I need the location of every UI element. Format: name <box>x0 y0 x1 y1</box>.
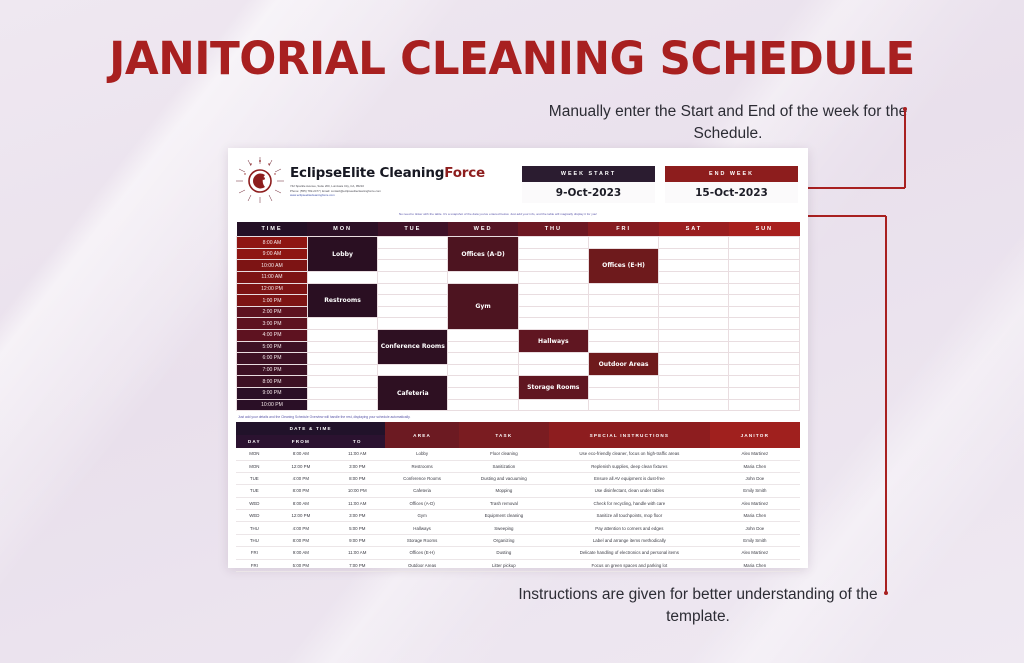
schedule-grid-row: 8:00 AMLobbyOffices (A-D) <box>237 237 800 249</box>
schedule-task-block[interactable]: Cafeteria <box>378 376 448 411</box>
schedule-empty-cell[interactable] <box>448 364 518 376</box>
schedule-empty-cell[interactable] <box>659 306 729 318</box>
data-cell-janitor[interactable]: John Doe <box>710 522 800 534</box>
data-cell-special-instructions[interactable]: Replenish supplies, deep clean fixtures <box>549 460 710 472</box>
data-cell-area[interactable]: Offices (E-H) <box>385 547 458 559</box>
data-cell-area[interactable]: Hallways <box>385 522 458 534</box>
data-table-header-day: DAY <box>236 435 273 448</box>
schedule-header-sun: SUN <box>729 222 800 237</box>
schedule-grid-row: 12:00 PMRestroomsGym <box>237 283 800 295</box>
schedule-empty-cell[interactable] <box>588 295 658 307</box>
data-cell-from[interactable]: 12:00 PM <box>273 510 329 522</box>
schedule-time-label: 7:00 PM <box>237 364 308 376</box>
schedule-time-label: 6:00 PM <box>237 353 308 365</box>
schedule-empty-cell[interactable] <box>729 248 800 260</box>
data-cell-day[interactable]: TUE <box>236 485 273 497</box>
data-cell-to[interactable]: 7:00 PM <box>329 559 385 571</box>
data-cell-special-instructions[interactable]: Ensure all AV equipment is dust-free <box>549 472 710 484</box>
schedule-empty-cell[interactable] <box>518 260 588 272</box>
page-title: JANITORIAL CLEANING SCHEDULE <box>15 32 1008 85</box>
annotation-top-arrow-vertical <box>904 109 906 188</box>
schedule-time-label: 10:00 AM <box>237 260 308 272</box>
schedule-empty-cell[interactable] <box>518 399 588 411</box>
brand-block: EclipseElite CleaningForce 742 Sparkle A… <box>290 156 522 198</box>
schedule-empty-cell[interactable] <box>518 364 588 376</box>
data-table-row[interactable]: FRI5:00 PM7:00 PMOutdoor AreasLitter pic… <box>236 559 800 571</box>
schedule-header-tue: TUE <box>378 222 448 237</box>
schedule-empty-cell[interactable] <box>518 272 588 284</box>
schedule-empty-cell[interactable] <box>729 376 800 388</box>
schedule-empty-cell[interactable] <box>307 387 377 399</box>
data-cell-task[interactable]: Floor cleaning <box>459 448 549 460</box>
data-cell-task[interactable]: Sweeping <box>459 522 549 534</box>
schedule-grid-row: 4:00 PMConference RoomsHallways <box>237 330 800 342</box>
schedule-header-time: TIME <box>237 222 308 237</box>
date-boxes: WEEK START 9-Oct-2023 END WEEK 15-Oct-20… <box>522 156 798 203</box>
brand-name-accent: Force <box>444 165 485 181</box>
schedule-empty-cell[interactable] <box>378 260 448 272</box>
schedule-empty-cell[interactable] <box>307 272 377 284</box>
schedule-empty-cell[interactable] <box>448 376 518 388</box>
schedule-time-label: 2:00 PM <box>237 306 308 318</box>
data-cell-task[interactable]: Sanitization <box>459 460 549 472</box>
data-cell-area[interactable]: Gym <box>385 510 458 522</box>
data-cell-area[interactable]: Restrooms <box>385 460 458 472</box>
schedule-empty-cell[interactable] <box>588 376 658 388</box>
schedule-empty-cell[interactable] <box>729 295 800 307</box>
data-table-row[interactable]: MON12:00 PM3:00 PMRestroomsSanitizationR… <box>236 460 800 472</box>
schedule-header-thu: THU <box>518 222 588 237</box>
data-cell-from[interactable]: 12:00 PM <box>273 460 329 472</box>
week-end-label: END WEEK <box>665 166 798 182</box>
data-cell-day[interactable]: WED <box>236 510 273 522</box>
schedule-empty-cell[interactable] <box>307 330 377 342</box>
data-cell-janitor[interactable]: Alex Martinez <box>710 448 800 460</box>
schedule-grid-container: TIMEMONTUEWEDTHUFRISATSUN 8:00 AMLobbyOf… <box>228 217 808 411</box>
data-cell-task[interactable]: Equipment cleaning <box>459 510 549 522</box>
schedule-task-block[interactable]: Conference Rooms <box>378 330 448 365</box>
week-start-value[interactable]: 9-Oct-2023 <box>522 182 655 203</box>
schedule-empty-cell[interactable] <box>659 272 729 284</box>
schedule-empty-cell[interactable] <box>448 387 518 399</box>
data-cell-area[interactable]: Offices (A-D) <box>385 497 458 509</box>
schedule-empty-cell[interactable] <box>729 272 800 284</box>
data-cell-from[interactable]: 8:00 AM <box>273 448 329 460</box>
schedule-empty-cell[interactable] <box>729 341 800 353</box>
schedule-empty-cell[interactable] <box>378 306 448 318</box>
data-cell-day[interactable]: THU <box>236 534 273 546</box>
schedule-empty-cell[interactable] <box>588 330 658 342</box>
schedule-time-label: 8:00 AM <box>237 237 308 249</box>
data-table-row[interactable]: FRI9:00 AM11:00 AMOffices (E-H)DustingDe… <box>236 547 800 559</box>
data-cell-to[interactable]: 11:00 AM <box>329 448 385 460</box>
data-table-row[interactable]: MON8:00 AM11:00 AMLobbyFloor cleaningUse… <box>236 448 800 460</box>
data-cell-day[interactable]: MON <box>236 448 273 460</box>
schedule-empty-cell[interactable] <box>588 306 658 318</box>
schedule-empty-cell[interactable] <box>588 387 658 399</box>
week-start-label: WEEK START <box>522 166 655 182</box>
data-table-header-janitor: JANITOR <box>710 422 800 448</box>
data-cell-area[interactable]: Storage Rooms <box>385 534 458 546</box>
schedule-empty-cell[interactable] <box>729 260 800 272</box>
data-cell-janitor[interactable]: Emily Smith <box>710 534 800 546</box>
data-cell-special-instructions[interactable]: Delicate handling of electronics and per… <box>549 547 710 559</box>
data-cell-task[interactable]: Dusting <box>459 547 549 559</box>
data-cell-special-instructions[interactable]: Label and arrange items methodically <box>549 534 710 546</box>
annotation-bottom-arrow-vertical <box>885 216 887 592</box>
schedule-grid-row: 3:00 PM <box>237 318 800 330</box>
schedule-grid-row: 9:00 PM <box>237 387 800 399</box>
data-table-row[interactable]: WED12:00 PM3:00 PMGymEquipment cleaningS… <box>236 510 800 522</box>
schedule-empty-cell[interactable] <box>448 341 518 353</box>
schedule-empty-cell[interactable] <box>729 283 800 295</box>
data-cell-task[interactable]: Trash removal <box>459 497 549 509</box>
schedule-time-label: 1:00 PM <box>237 295 308 307</box>
schedule-empty-cell[interactable] <box>448 272 518 284</box>
schedule-empty-cell[interactable] <box>659 399 729 411</box>
brand-website[interactable]: www.eclipseelitecleaningforce.com <box>290 193 522 198</box>
schedule-grid-row: 8:00 PMCafeteriaStorage Rooms <box>237 376 800 388</box>
data-cell-janitor[interactable]: Maria Chen <box>710 460 800 472</box>
schedule-header-mon: MON <box>307 222 377 237</box>
schedule-grid-row: 5:00 PM <box>237 341 800 353</box>
schedule-empty-cell[interactable] <box>659 248 729 260</box>
schedule-task-block[interactable]: Lobby <box>307 237 377 272</box>
schedule-empty-cell[interactable] <box>729 353 800 365</box>
schedule-task-block[interactable]: Hallways <box>518 330 588 353</box>
schedule-empty-cell[interactable] <box>659 387 729 399</box>
schedule-grid-row: 7:00 PM <box>237 364 800 376</box>
data-cell-to[interactable]: 10:00 PM <box>329 485 385 497</box>
data-cell-task[interactable]: Organizing <box>459 534 549 546</box>
data-cell-special-instructions[interactable]: Focus on green spaces and parking lot <box>549 559 710 571</box>
schedule-empty-cell[interactable] <box>378 364 448 376</box>
schedule-empty-cell[interactable] <box>448 399 518 411</box>
data-cell-janitor[interactable]: Maria Chen <box>710 510 800 522</box>
schedule-empty-cell[interactable] <box>448 353 518 365</box>
schedule-empty-cell[interactable] <box>378 237 448 249</box>
schedule-empty-cell[interactable] <box>588 283 658 295</box>
annotation-bottom: Instructions are given for better unders… <box>503 584 893 629</box>
schedule-time-label: 3:00 PM <box>237 318 308 330</box>
brand-name: EclipseElite CleaningForce <box>290 165 522 181</box>
data-cell-task[interactable]: Dusting and vacuuming <box>459 472 549 484</box>
data-cell-task[interactable]: Mopping <box>459 485 549 497</box>
schedule-empty-cell[interactable] <box>659 353 729 365</box>
data-cell-from[interactable]: 4:00 PM <box>273 472 329 484</box>
data-cell-to[interactable]: 3:00 PM <box>329 510 385 522</box>
schedule-empty-cell[interactable] <box>588 237 658 249</box>
schedule-empty-cell[interactable] <box>518 295 588 307</box>
data-table-row[interactable]: THU8:00 PM9:00 PMStorage RoomsOrganizing… <box>236 534 800 546</box>
data-cell-task[interactable]: Litter pickup <box>459 559 549 571</box>
data-cell-day[interactable]: FRI <box>236 559 273 571</box>
schedule-empty-cell[interactable] <box>729 237 800 249</box>
schedule-header-sat: SAT <box>659 222 729 237</box>
schedule-empty-cell[interactable] <box>518 237 588 249</box>
week-end-value[interactable]: 15-Oct-2023 <box>665 182 798 203</box>
data-table-header-from: FROM <box>273 435 329 448</box>
schedule-empty-cell[interactable] <box>729 306 800 318</box>
schedule-empty-cell[interactable] <box>659 295 729 307</box>
schedule-empty-cell[interactable] <box>659 364 729 376</box>
schedule-empty-cell[interactable] <box>659 318 729 330</box>
schedule-empty-cell[interactable] <box>448 330 518 342</box>
schedule-task-block[interactable]: Offices (E-H) <box>588 248 658 283</box>
data-cell-janitor[interactable]: John Doe <box>710 472 800 484</box>
data-cell-to[interactable]: 11:00 AM <box>329 497 385 509</box>
schedule-empty-cell[interactable] <box>378 318 448 330</box>
schedule-empty-cell[interactable] <box>588 341 658 353</box>
data-cell-day[interactable]: FRI <box>236 547 273 559</box>
schedule-time-label: 9:00 AM <box>237 248 308 260</box>
data-cell-from[interactable]: 8:00 PM <box>273 534 329 546</box>
data-cell-area[interactable]: Conference Rooms <box>385 472 458 484</box>
schedule-empty-cell[interactable] <box>378 248 448 260</box>
schedule-grid-header-row: TIMEMONTUEWEDTHUFRISATSUN <box>237 222 800 237</box>
data-cell-to[interactable]: 9:00 PM <box>329 534 385 546</box>
data-cell-day[interactable]: TUE <box>236 472 273 484</box>
schedule-time-label: 12:00 PM <box>237 283 308 295</box>
schedule-time-label: 4:00 PM <box>237 330 308 342</box>
data-table-group-header: DATE & TIME <box>236 422 385 435</box>
data-cell-from[interactable]: 8:00 AM <box>273 497 329 509</box>
schedule-empty-cell[interactable] <box>729 330 800 342</box>
data-cell-from[interactable]: 4:00 PM <box>273 522 329 534</box>
schedule-empty-cell[interactable] <box>659 330 729 342</box>
schedule-empty-cell[interactable] <box>588 399 658 411</box>
schedule-empty-cell[interactable] <box>729 318 800 330</box>
data-table-header-area: AREA <box>385 422 458 448</box>
data-cell-to[interactable]: 5:00 PM <box>329 522 385 534</box>
schedule-empty-cell[interactable] <box>307 341 377 353</box>
data-table-row[interactable]: TUE8:00 PM10:00 PMCafeteriaMoppingUse di… <box>236 485 800 497</box>
data-cell-to[interactable]: 11:00 AM <box>329 547 385 559</box>
schedule-grid-row: 10:00 PM <box>237 399 800 411</box>
data-cell-special-instructions[interactable]: Pay attention to corners and edges <box>549 522 710 534</box>
schedule-empty-cell[interactable] <box>518 306 588 318</box>
schedule-empty-cell[interactable] <box>518 353 588 365</box>
schedule-empty-cell[interactable] <box>518 318 588 330</box>
schedule-task-block[interactable]: Restrooms <box>307 283 377 318</box>
annotation-top: Manually enter the Start and End of the … <box>543 101 913 146</box>
schedule-empty-cell[interactable] <box>518 248 588 260</box>
schedule-empty-cell[interactable] <box>518 283 588 295</box>
data-cell-special-instructions[interactable]: Check for recycling, handle with care <box>549 497 710 509</box>
schedule-grid-row: 11:00 AM <box>237 272 800 284</box>
schedule-time-label: 9:00 PM <box>237 387 308 399</box>
schedule-empty-cell[interactable] <box>378 283 448 295</box>
eclipse-crescent-sun-logo-icon <box>234 156 286 204</box>
schedule-task-block[interactable]: Outdoor Areas <box>588 353 658 376</box>
document-sheet: EclipseElite CleaningForce 742 Sparkle A… <box>228 148 808 568</box>
data-cell-area[interactable]: Lobby <box>385 448 458 460</box>
schedule-empty-cell[interactable] <box>307 318 377 330</box>
data-cell-special-instructions[interactable]: Use eco-friendly cleaner, focus on high-… <box>549 448 710 460</box>
data-cell-from[interactable]: 8:00 PM <box>273 485 329 497</box>
schedule-empty-cell[interactable] <box>307 364 377 376</box>
data-cell-special-instructions[interactable]: Sanitize all touchpoints, mop floor <box>549 510 710 522</box>
data-cell-to[interactable]: 8:00 PM <box>329 472 385 484</box>
data-cell-from[interactable]: 5:00 PM <box>273 559 329 571</box>
data-table-row[interactable]: TUE4:00 PM8:00 PMConference RoomsDusting… <box>236 472 800 484</box>
schedule-empty-cell[interactable] <box>307 399 377 411</box>
schedule-time-label: 10:00 PM <box>237 399 308 411</box>
schedule-empty-cell[interactable] <box>307 353 377 365</box>
data-table-row[interactable]: THU4:00 PM5:00 PMHallwaysSweepingPay att… <box>236 522 800 534</box>
schedule-task-block[interactable]: Storage Rooms <box>518 376 588 399</box>
schedule-empty-cell[interactable] <box>729 387 800 399</box>
week-end-box: END WEEK 15-Oct-2023 <box>665 166 798 203</box>
schedule-empty-cell[interactable] <box>729 399 800 411</box>
data-cell-special-instructions[interactable]: Use disinfectant, clean under tables <box>549 485 710 497</box>
data-cell-janitor[interactable]: Maria Chen <box>710 559 800 571</box>
data-cell-to[interactable]: 3:00 PM <box>329 460 385 472</box>
schedule-empty-cell[interactable] <box>659 283 729 295</box>
data-table: DATE & TIMEAREATASKSPECIAL INSTRUCTIONSJ… <box>236 422 800 572</box>
schedule-header-fri: FRI <box>588 222 658 237</box>
data-table-header-task: TASK <box>459 422 549 448</box>
data-cell-janitor[interactable]: Alex Martinez <box>710 497 800 509</box>
data-cell-day[interactable]: WED <box>236 497 273 509</box>
schedule-empty-cell[interactable] <box>659 237 729 249</box>
data-table-row[interactable]: WED8:00 AM11:00 AMOffices (A-D)Trash rem… <box>236 497 800 509</box>
data-table-header-to: TO <box>329 435 385 448</box>
schedule-empty-cell[interactable] <box>729 364 800 376</box>
data-cell-day[interactable]: MON <box>236 460 273 472</box>
document-header: EclipseElite CleaningForce 742 Sparkle A… <box>228 148 808 210</box>
data-table-header-special-instructions: SPECIAL INSTRUCTIONS <box>549 422 710 448</box>
data-cell-janitor[interactable]: Emily Smith <box>710 485 800 497</box>
data-cell-area[interactable]: Outdoor Areas <box>385 559 458 571</box>
schedule-empty-cell[interactable] <box>378 272 448 284</box>
data-cell-area[interactable]: Cafeteria <box>385 485 458 497</box>
brand-name-primary: EclipseElite Cleaning <box>290 165 444 181</box>
week-start-box: WEEK START 9-Oct-2023 <box>522 166 655 203</box>
data-cell-janitor[interactable]: Alex Martinez <box>710 547 800 559</box>
data-table-container: DATE & TIMEAREATASKSPECIAL INSTRUCTIONSJ… <box>228 422 808 580</box>
schedule-time-label: 11:00 AM <box>237 272 308 284</box>
schedule-empty-cell[interactable] <box>378 295 448 307</box>
data-table-group-header-row: DATE & TIMEAREATASKSPECIAL INSTRUCTIONSJ… <box>236 422 800 435</box>
schedule-time-label: 8:00 PM <box>237 376 308 388</box>
schedule-empty-cell[interactable] <box>659 376 729 388</box>
schedule-empty-cell[interactable] <box>588 318 658 330</box>
schedule-empty-cell[interactable] <box>659 260 729 272</box>
schedule-grid-row: 6:00 PMOutdoor Areas <box>237 353 800 365</box>
brand-contact-block: 742 Sparkle Avenue, Suite 200, Lumixara … <box>290 184 522 198</box>
schedule-task-block[interactable]: Gym <box>448 283 518 329</box>
schedule-header-wed: WED <box>448 222 518 237</box>
schedule-time-label: 5:00 PM <box>237 341 308 353</box>
schedule-empty-cell[interactable] <box>307 376 377 388</box>
data-cell-day[interactable]: THU <box>236 522 273 534</box>
schedule-empty-cell[interactable] <box>659 341 729 353</box>
data-cell-from[interactable]: 9:00 AM <box>273 547 329 559</box>
schedule-grid: TIMEMONTUEWEDTHUFRISATSUN 8:00 AMLobbyOf… <box>236 222 800 411</box>
overview-note: Just add your details and the Cleaning S… <box>228 411 808 422</box>
schedule-task-block[interactable]: Offices (A-D) <box>448 237 518 272</box>
